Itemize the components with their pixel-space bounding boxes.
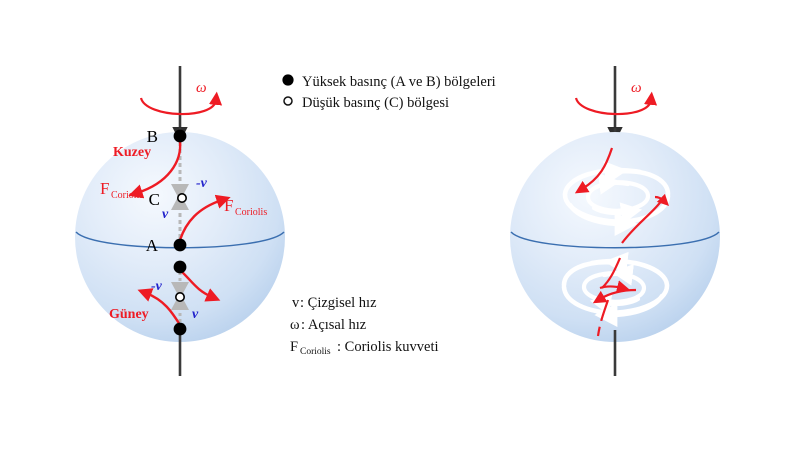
legend-high-pressure-label: Yüksek basınç (A ve B) bölgeleri (302, 74, 496, 90)
force-subscript-west: Coriolis (111, 190, 143, 201)
legend-low-pressure-label: Düşük basınç (C) bölgesi (302, 95, 449, 111)
label-guney: Güney (109, 307, 149, 322)
point-B-label: B (147, 127, 158, 146)
point-B-marker (174, 130, 187, 143)
point-A-marker (174, 239, 187, 252)
label-minus-v-north: -v (196, 176, 208, 191)
hollow-circle-icon (284, 97, 292, 105)
label-kuzey: Kuzey (113, 145, 151, 160)
force-symbol-west: F (100, 179, 109, 198)
legend-force-symbol: F (290, 339, 298, 355)
legend-omega-label: : Açısal hız (301, 317, 367, 333)
force-subscript-east: Coriolis (235, 207, 267, 218)
label-v-south: v (192, 307, 199, 322)
legend-item-omega: ω : Açısal hız (290, 317, 367, 333)
omega-symbol-left: ω (196, 80, 207, 96)
legend-force-subscript: Coriolis (300, 347, 331, 357)
point-south-high-upper (174, 261, 187, 274)
point-C-marker (178, 194, 186, 202)
legend-omega-symbol: ω (290, 317, 300, 333)
point-south-low (176, 293, 184, 301)
legend-v-symbol: v (292, 295, 300, 311)
omega-symbol-right: ω (631, 80, 642, 96)
legend-force-label: : Coriolis kuvveti (337, 339, 439, 355)
force-symbol-east: F (224, 196, 233, 215)
legend-item-v: v : Çizgisel hız (292, 295, 377, 311)
point-C-label: C (149, 190, 160, 209)
filled-circle-icon (282, 74, 293, 85)
figure-canvas: ω B A C Kuzey -v v F (0, 0, 800, 450)
legend-v-label: : Çizgisel hız (300, 295, 377, 311)
coriolis-diagram: ω B A C Kuzey -v v F (0, 0, 800, 450)
point-A-label: A (146, 236, 159, 255)
point-south-high-lower (174, 323, 187, 336)
label-v-north: v (162, 207, 169, 222)
label-minus-v-south: -v (151, 279, 163, 294)
